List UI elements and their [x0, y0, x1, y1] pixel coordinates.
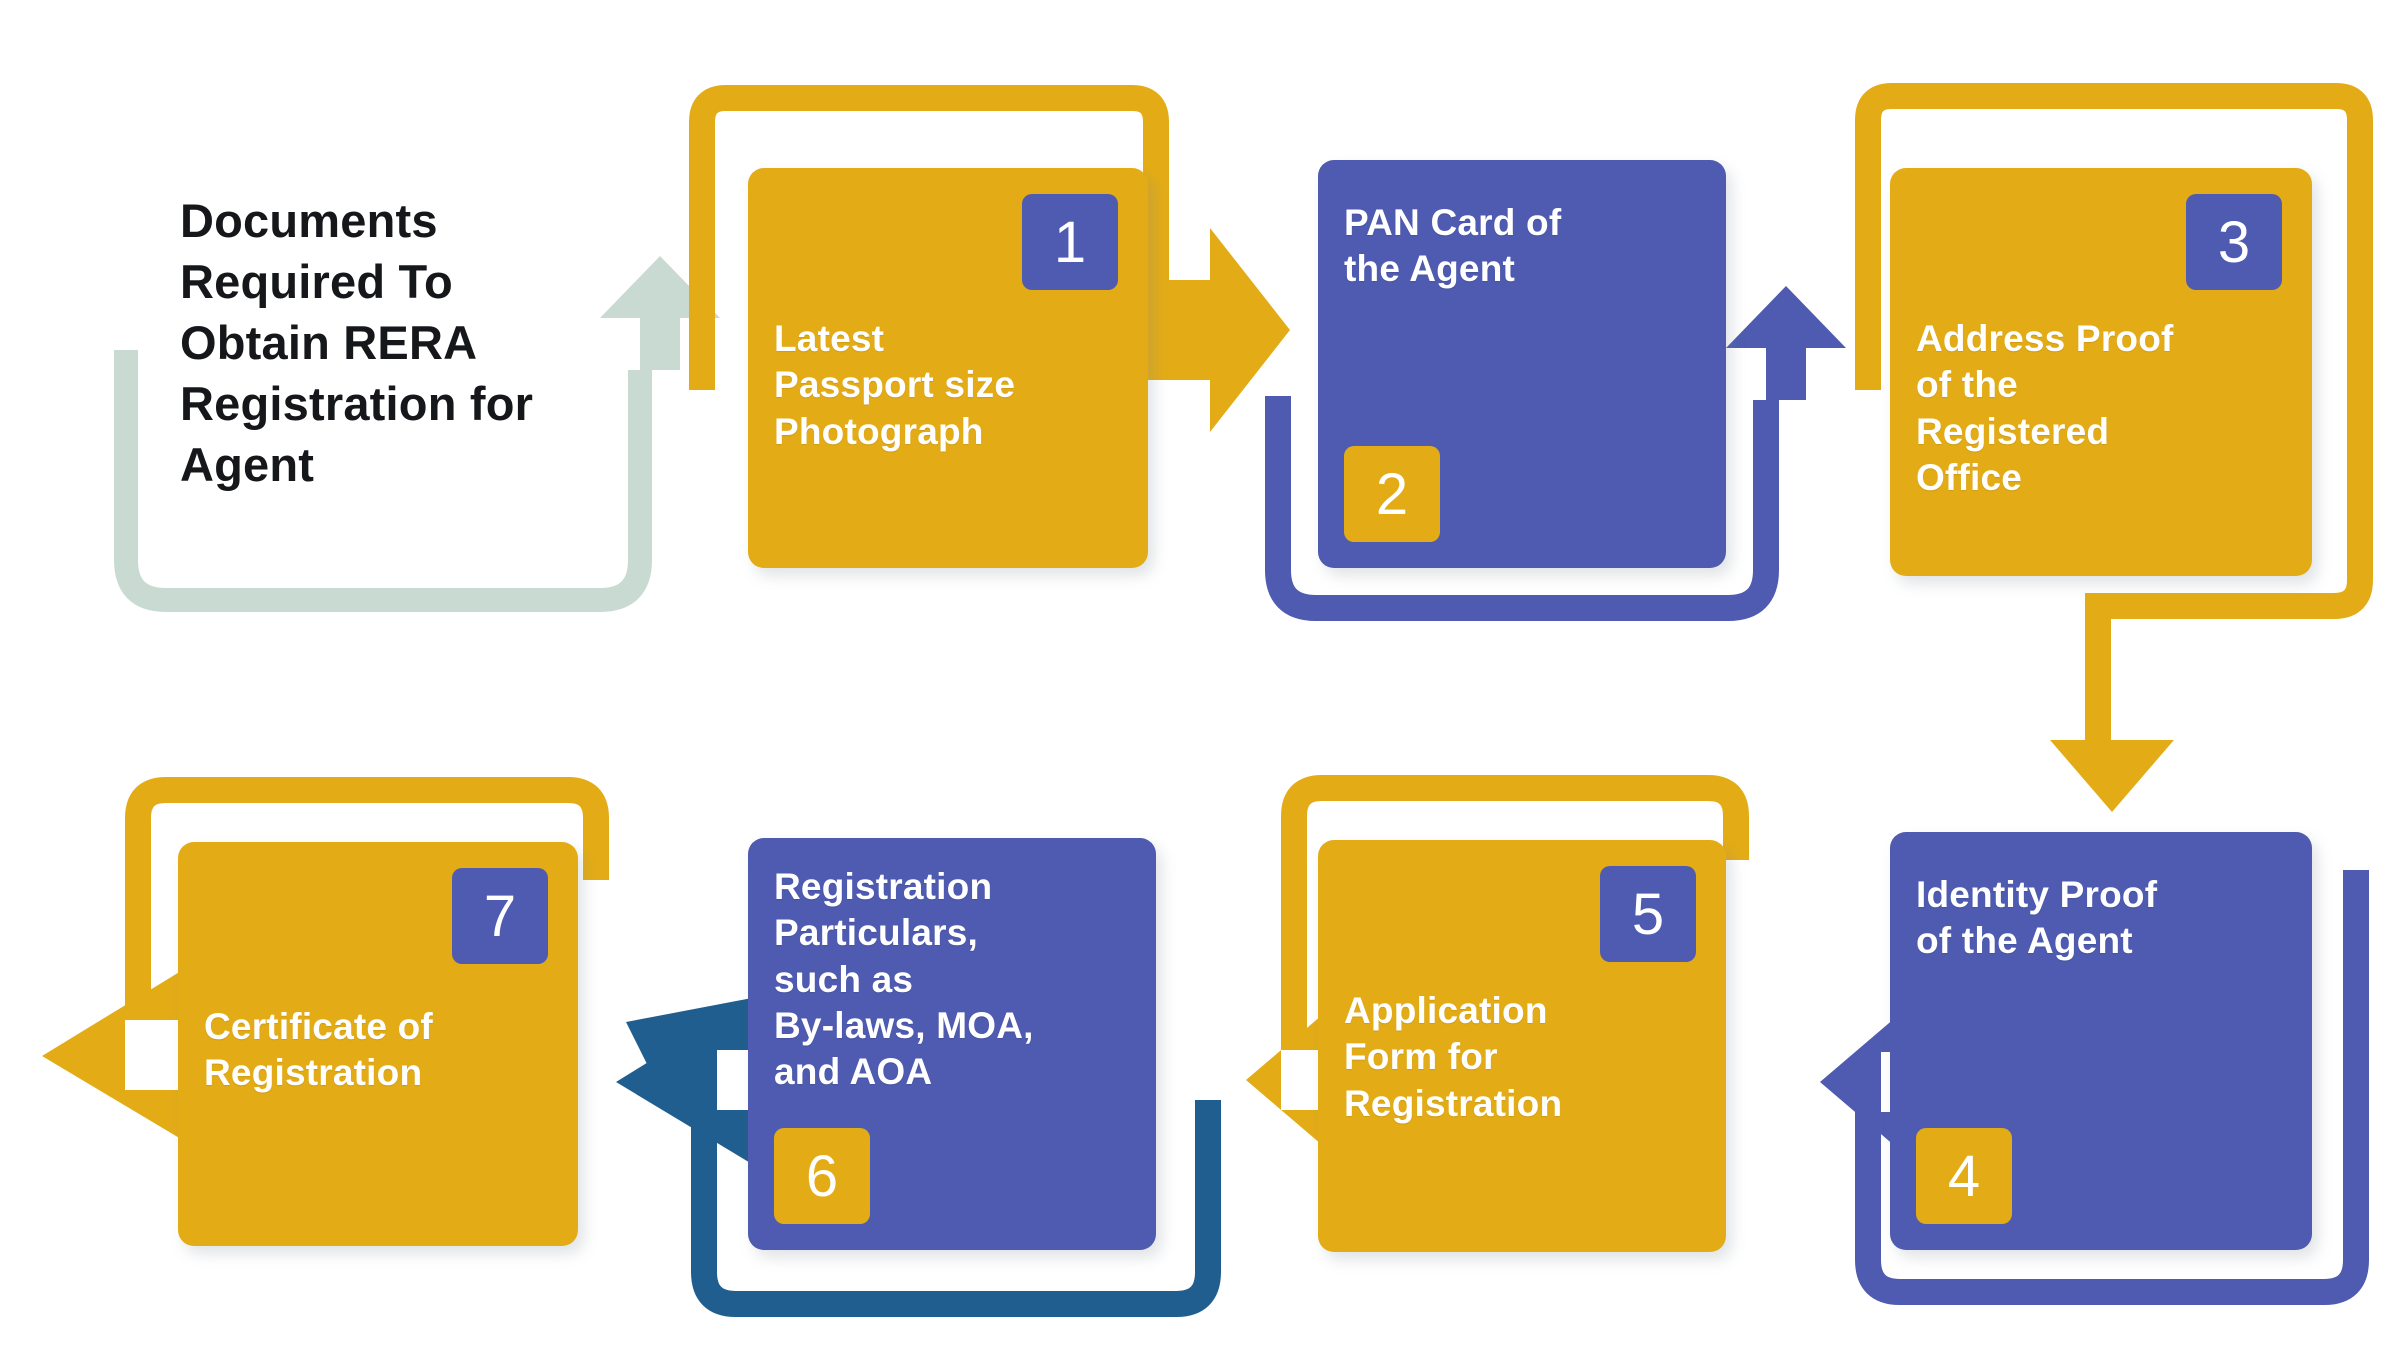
card-spacer [1890, 501, 2312, 576]
card-spacer [1318, 160, 1726, 200]
flowchart-canvas: Documents Required To Obtain RERA Regist… [0, 0, 2400, 1358]
step-label-2: PAN Card of the Agent [1318, 200, 1726, 293]
step-number-badge-6: 6 [774, 1128, 870, 1224]
diagram-title-block: Documents Required To Obtain RERA Regist… [180, 190, 610, 495]
step-card-1[interactable]: 1 Latest Passport size Photograph [748, 168, 1148, 568]
card-spacer [748, 838, 1156, 864]
step-number-badge-4: 4 [1916, 1128, 2012, 1224]
card-spacer [1890, 290, 2312, 316]
card-spacer [748, 290, 1148, 316]
step-card-3[interactable]: 3 Address Proof of the Registered Office [1890, 168, 2312, 576]
step-label-4: Identity Proof of the Agent [1890, 872, 2312, 965]
step-card-4[interactable]: Identity Proof of the Agent 4 [1890, 832, 2312, 1250]
step-card-7[interactable]: 7 Certificate of Registration [178, 842, 578, 1246]
card-spacer [1318, 1127, 1726, 1252]
step-number-badge-5: 5 [1600, 866, 1696, 962]
card-spacer [748, 1095, 1156, 1128]
step-label-3: Address Proof of the Registered Office [1890, 316, 2312, 501]
card-spacer [1318, 293, 1726, 447]
card-spacer [748, 455, 1148, 568]
step-label-5: Application Form for Registration [1318, 988, 1726, 1127]
card-spacer [178, 1097, 578, 1247]
page-title: Documents Required To Obtain RERA Regist… [180, 190, 610, 495]
step-label-7: Certificate of Registration [178, 1004, 578, 1097]
step-label-6: Registration Particulars, such as By-law… [748, 864, 1156, 1095]
step-card-2[interactable]: PAN Card of the Agent 2 [1318, 160, 1726, 568]
card-spacer [178, 964, 578, 1004]
step-card-6[interactable]: Registration Particulars, such as By-law… [748, 838, 1156, 1250]
card-spacer [1318, 962, 1726, 988]
card-spacer [1890, 832, 2312, 872]
step-card-5[interactable]: 5 Application Form for Registration [1318, 840, 1726, 1252]
step-label-1: Latest Passport size Photograph [748, 316, 1148, 455]
step-number-badge-3: 3 [2186, 194, 2282, 290]
card-spacer [1890, 965, 2312, 1129]
step-number-badge-2: 2 [1344, 446, 1440, 542]
step-number-badge-7: 7 [452, 868, 548, 964]
step-number-badge-1: 1 [1022, 194, 1118, 290]
